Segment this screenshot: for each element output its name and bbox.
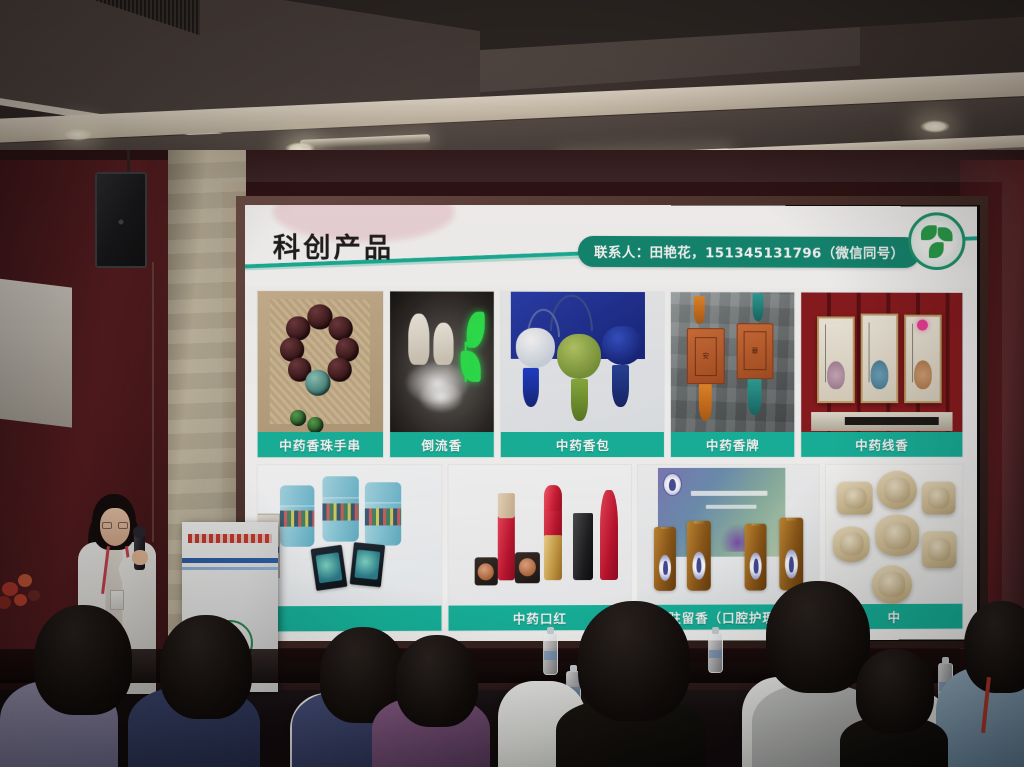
- attendee-head: [34, 605, 132, 715]
- attendee-head: [396, 635, 478, 727]
- attendee-head: [160, 615, 252, 719]
- podium-banner-text: [188, 534, 272, 543]
- product-photo-plaque: 安 華: [671, 292, 794, 432]
- product-cell-backflow-incense[interactable]: 倒流香: [389, 290, 495, 458]
- product-cell-bracelet[interactable]: 中药香珠手串: [257, 290, 384, 458]
- attendee-head: [578, 601, 690, 721]
- tooth-logo-icon: [663, 473, 682, 496]
- conference-room-photo: 科创产品 联系人：田艳花，151345131796（微信同号）: [0, 0, 1024, 767]
- attendee-head: [964, 601, 1024, 693]
- product-photo-bracelet: [258, 291, 383, 432]
- leaf-icon: [920, 224, 954, 258]
- product-caption: 中药香珠手串: [258, 432, 383, 457]
- attendee-head: [856, 649, 934, 733]
- wall-speaker: [95, 172, 147, 268]
- glasses-icon: [102, 522, 128, 529]
- contact-badge: 联系人：田艳花，151345131796（微信同号）: [578, 236, 920, 268]
- attendee-head: [766, 581, 870, 693]
- leaf-icon: [467, 311, 485, 348]
- product-photo-sachet: [501, 292, 664, 432]
- institution-logo-icon: [908, 212, 965, 270]
- slide-title: 科创产品: [273, 226, 394, 266]
- product-cell-sachet[interactable]: 中药香包: [500, 291, 665, 458]
- product-caption: 中药香牌: [671, 432, 794, 457]
- product-caption: 中药香包: [501, 432, 664, 457]
- product-cell-stick-incense[interactable]: 中药线香: [800, 291, 963, 457]
- laser-pointer-dot: [917, 319, 928, 330]
- product-photo-incense: [801, 292, 962, 431]
- product-caption: 倒流香: [390, 432, 494, 457]
- slide-header: 科创产品 联系人：田艳花，151345131796（微信同号）: [245, 205, 977, 288]
- product-cell-fragrance-plaque[interactable]: 安 華 中药香牌: [670, 291, 795, 458]
- product-caption: 中药线香: [801, 432, 962, 457]
- downlight-icon: [920, 120, 950, 133]
- air-vent: [80, 0, 200, 35]
- product-photo-burner: [390, 291, 494, 432]
- speaker-driver-icon: [119, 219, 124, 224]
- wall-board: [0, 276, 72, 427]
- audience: [0, 552, 1024, 767]
- incense-tray: [811, 412, 953, 430]
- water-bottle: [708, 633, 723, 673]
- water-bottle: [543, 633, 558, 675]
- downlight-icon: [63, 128, 93, 141]
- product-row: 中药香珠手串 倒流香: [257, 290, 964, 458]
